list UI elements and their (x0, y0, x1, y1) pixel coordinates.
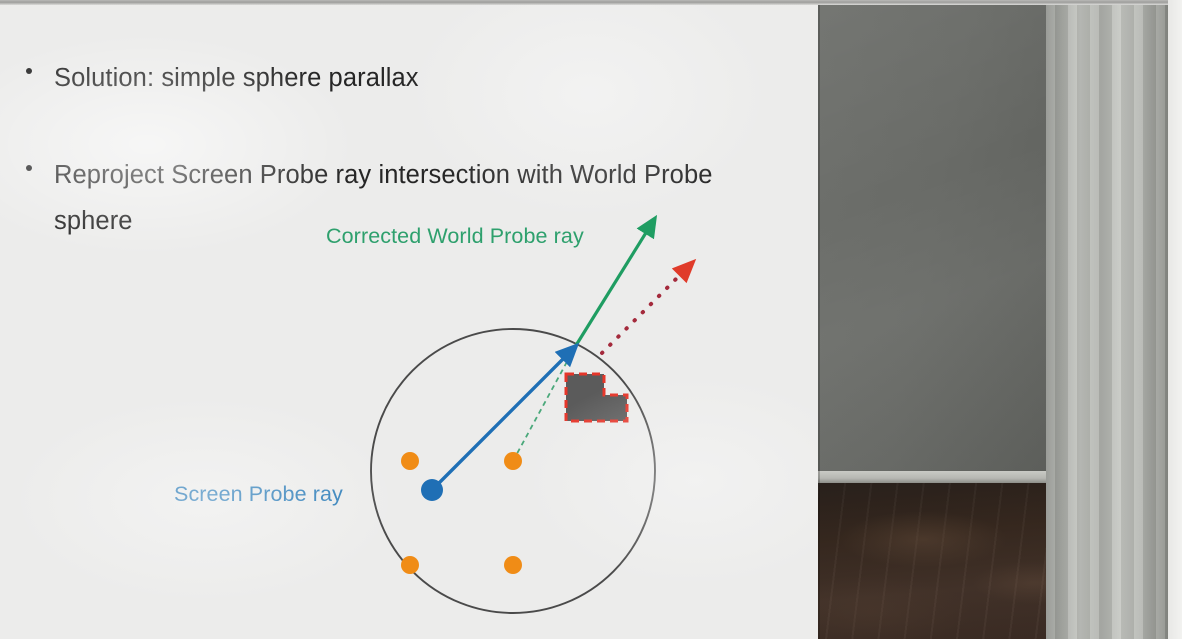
world-probe-dot (504, 452, 522, 470)
webcam-video-feed[interactable] (818, 5, 1168, 639)
video-baseboard (818, 471, 1070, 483)
screen-probe-ray (432, 350, 572, 490)
video-panel-right-margin (1168, 0, 1182, 639)
label-screen-probe-ray: Screen Probe ray (174, 482, 343, 507)
world-probe-dot (504, 556, 522, 574)
video-curtain-folds (1046, 5, 1168, 639)
occluder-geometry (566, 374, 627, 421)
video-wall-sheen (818, 5, 1070, 479)
sphere-parallax-diagram (0, 5, 818, 639)
slide-panel: Solution: simple sphere parallax Reproje… (0, 5, 818, 639)
world-probe-dot (401, 556, 419, 574)
presentation-screen-share: Solution: simple sphere parallax Reproje… (0, 0, 1182, 639)
screen-probe-origin-dot (421, 479, 443, 501)
world-probe-dot (401, 452, 419, 470)
corrected-world-probe-ray (575, 223, 652, 347)
label-corrected-world-probe-ray: Corrected World Probe ray (326, 224, 584, 249)
video-panel-left-edge (818, 5, 820, 639)
